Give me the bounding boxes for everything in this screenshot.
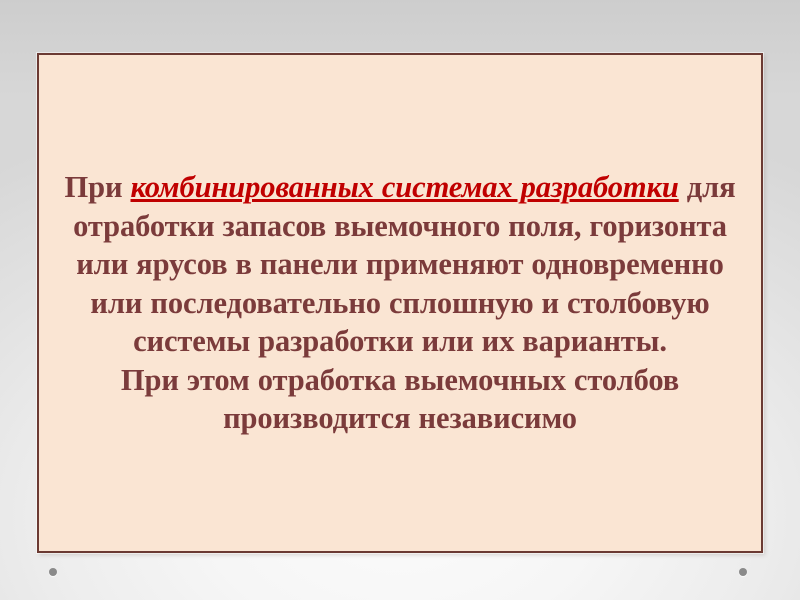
text-emphasis-phrase: комбинированных системах разработки [131,170,679,204]
text-lead-word: При [65,170,131,204]
decorative-dot-right-icon [739,568,747,576]
decorative-dot-left-icon [49,568,57,576]
slide-body-text: При комбинированных системах разработки … [39,168,761,438]
presentation-slide: При комбинированных системах разработки … [0,0,800,600]
text-body-part-two: При этом отработка выемочных столбов про… [121,363,679,436]
content-panel: При комбинированных системах разработки … [37,53,763,553]
